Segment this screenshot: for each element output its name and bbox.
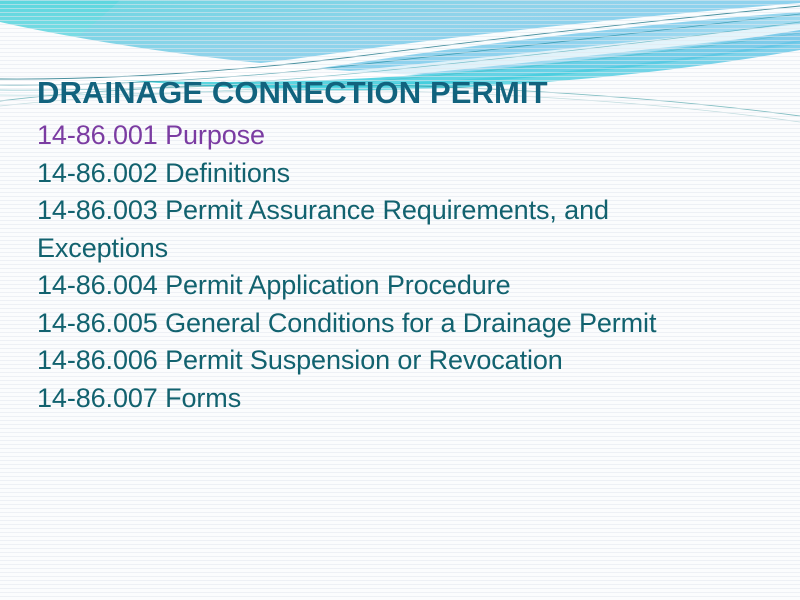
list-item: 14-86.003 Permit Assurance Requirements,… [37,192,737,267]
list-item: 14-86.007 Forms [37,380,737,418]
list-item: 14-86.005 General Conditions for a Drain… [37,305,737,343]
list-item: 14-86.004 Permit Application Procedure [37,267,737,305]
list-item: 14-86.001 Purpose [37,117,737,155]
list-item: 14-86.006 Permit Suspension or Revocatio… [37,342,737,380]
outline-list: 14-86.001 Purpose 14-86.002 Definitions … [37,117,737,417]
presentation-slide: DRAINAGE CONNECTION PERMIT 14-86.001 Pur… [0,0,800,600]
slide-content: DRAINAGE CONNECTION PERMIT 14-86.001 Pur… [0,0,800,600]
list-item: 14-86.002 Definitions [37,155,737,193]
page-title: DRAINAGE CONNECTION PERMIT [37,76,548,110]
